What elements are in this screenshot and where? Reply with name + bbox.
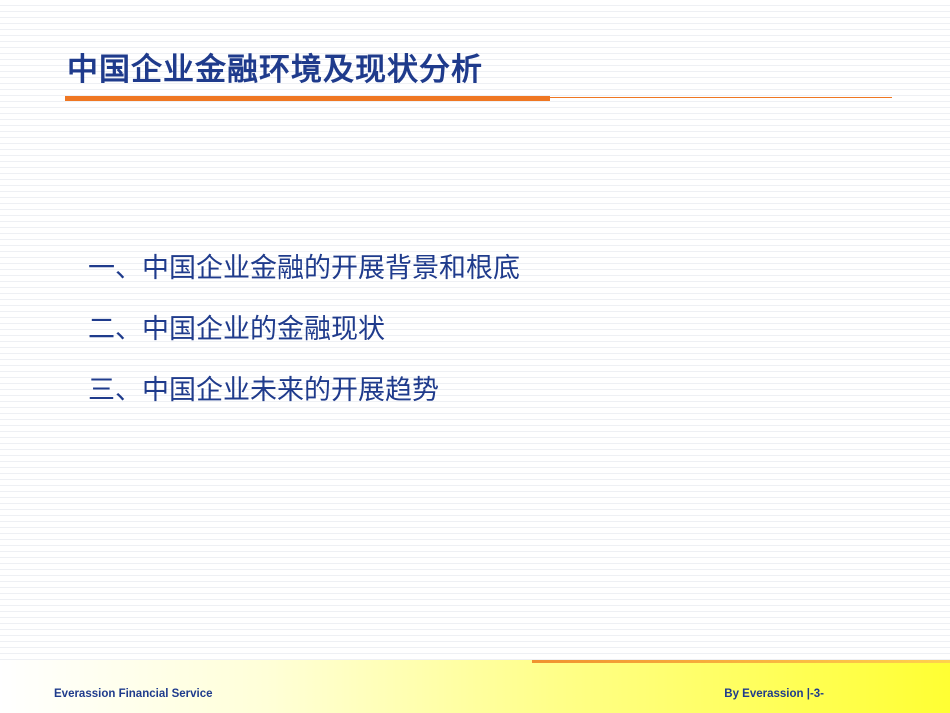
list-item: 二、中国企业的金融现状	[88, 316, 868, 343]
footer-page-number: By Everassion |-3-	[724, 688, 824, 700]
page-title: 中国企业金融环境及现状分析	[67, 44, 483, 89]
title-underline-thick	[65, 96, 550, 101]
slide-footer: Everassion Financial Service By Everassi…	[0, 660, 950, 713]
agenda-list: 一、中国企业金融的开展背景和根底 二、中国企业的金融现状 三、中国企业未来的开展…	[88, 255, 868, 438]
list-item: 三、中国企业未来的开展趋势	[88, 377, 868, 404]
footer-accent-rule	[532, 660, 950, 663]
slide: 中国企业金融环境及现状分析 一、中国企业金融的开展背景和根底 二、中国企业的金融…	[0, 0, 950, 713]
footer-background	[0, 660, 950, 713]
list-item: 一、中国企业金融的开展背景和根底	[88, 255, 868, 282]
footer-company-name: Everassion Financial Service	[54, 688, 213, 700]
